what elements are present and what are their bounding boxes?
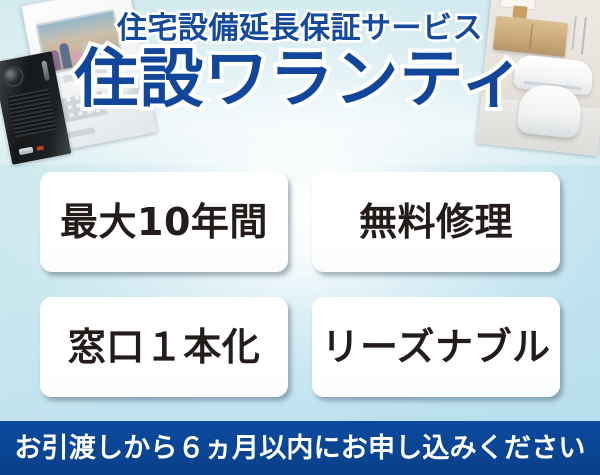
feature-label: リーズナブル [321,328,550,366]
feature-card: リーズナブル [312,297,560,397]
headline-block: 住宅設備延長保証サービス 住設ワランティ [0,14,600,113]
call-button [19,147,34,156]
feature-card: 窓口１本化 [40,297,288,397]
feature-label: 窓口１本化 [68,328,261,366]
feature-card-grid: 最大10年間 無料修理 窓口１本化 リーズナブル [40,172,560,397]
feature-card: 最大10年間 [40,172,288,272]
feature-card: 無料修理 [312,172,560,272]
feature-label: 最大10年間 [60,203,268,241]
status-led [36,146,44,151]
feature-label: 無料修理 [359,203,513,241]
application-deadline-bar: お引渡しから６ヵ月以内にお申し込みください [0,421,600,475]
intercom-label [65,127,96,139]
application-deadline-text: お引渡しから６ヵ月以内にお申し込みください [14,435,585,462]
service-subtitle: 住宅設備延長保証サービス [0,14,600,44]
promo-banner: 住宅設備延長保証サービス 住設ワランティ 最大10年間 無料修理 窓口１本化 リ… [0,0,600,475]
service-title: 住設ワランティ [0,48,600,113]
